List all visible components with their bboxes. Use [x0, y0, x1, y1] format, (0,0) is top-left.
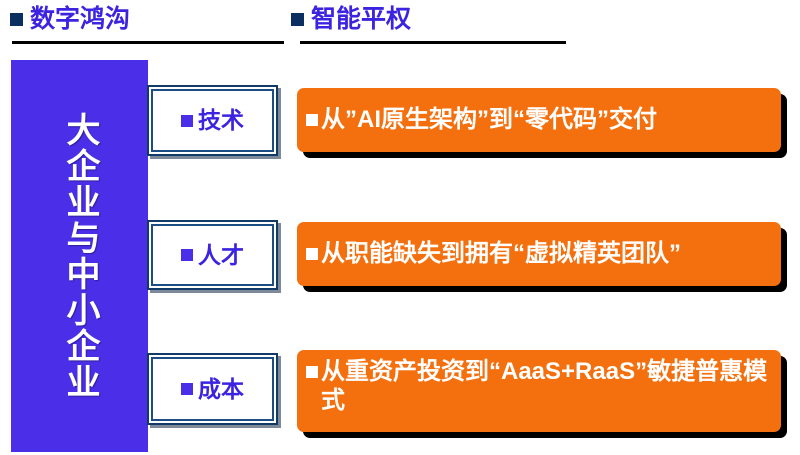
statement-box-cost[interactable]: 从重资产投资到“AaaS+RaaS”敏捷普惠模式 — [297, 350, 781, 432]
category-box-talent[interactable]: 人才 — [147, 220, 278, 290]
category-box-cost-label: 成本 — [198, 378, 244, 401]
square-bullet-icon — [306, 114, 318, 126]
square-bullet-icon — [181, 115, 193, 127]
category-box-cost[interactable]: 成本 — [147, 353, 278, 425]
heading-divider-left — [12, 41, 284, 44]
square-bullet-icon — [306, 366, 318, 378]
square-bullet-icon — [181, 383, 193, 395]
category-box-talent-content: 人才 — [181, 244, 244, 267]
category-box-technology[interactable]: 技术 — [147, 85, 278, 156]
square-bullet-icon — [10, 13, 23, 26]
sidebar-enterprise-band: 大企业与中小企业 — [11, 60, 148, 452]
statement-box-talent-content: 从职能缺失到拥有“虚拟精英团队” — [306, 239, 681, 268]
statement-box-technology-content: 从”AI原生架构”到“零代码”交付 — [306, 105, 657, 134]
heading-digital-divide: 数字鸿沟 — [10, 7, 130, 32]
statement-box-cost-content: 从重资产投资到“AaaS+RaaS”敏捷普惠模式 — [306, 357, 771, 416]
statement-box-cost-label: 从重资产投资到“AaaS+RaaS”敏捷普惠模式 — [321, 357, 771, 416]
square-bullet-icon — [291, 13, 304, 26]
square-bullet-icon — [181, 249, 193, 261]
statement-box-talent-label: 从职能缺失到拥有“虚拟精英团队” — [321, 239, 681, 268]
category-box-technology-label: 技术 — [198, 109, 244, 132]
heading-intelligent-equality-label: 智能平权 — [311, 7, 411, 32]
slide-canvas: 数字鸿沟 智能平权 大企业与中小企业 技术 人才 成本 从”AI原生架构”到“零… — [0, 0, 800, 455]
heading-divider-right — [300, 41, 566, 44]
category-box-cost-content: 成本 — [181, 378, 244, 401]
category-box-talent-label: 人才 — [198, 244, 244, 267]
heading-intelligent-equality: 智能平权 — [291, 7, 411, 32]
statement-box-technology[interactable]: 从”AI原生架构”到“零代码”交付 — [297, 88, 781, 152]
statement-box-talent[interactable]: 从职能缺失到拥有“虚拟精英团队” — [297, 222, 781, 286]
category-box-technology-content: 技术 — [181, 109, 244, 132]
sidebar-label: 大企业与中小企业 — [62, 112, 97, 400]
heading-digital-divide-label: 数字鸿沟 — [30, 7, 130, 32]
square-bullet-icon — [306, 248, 318, 260]
statement-box-technology-label: 从”AI原生架构”到“零代码”交付 — [321, 105, 657, 134]
